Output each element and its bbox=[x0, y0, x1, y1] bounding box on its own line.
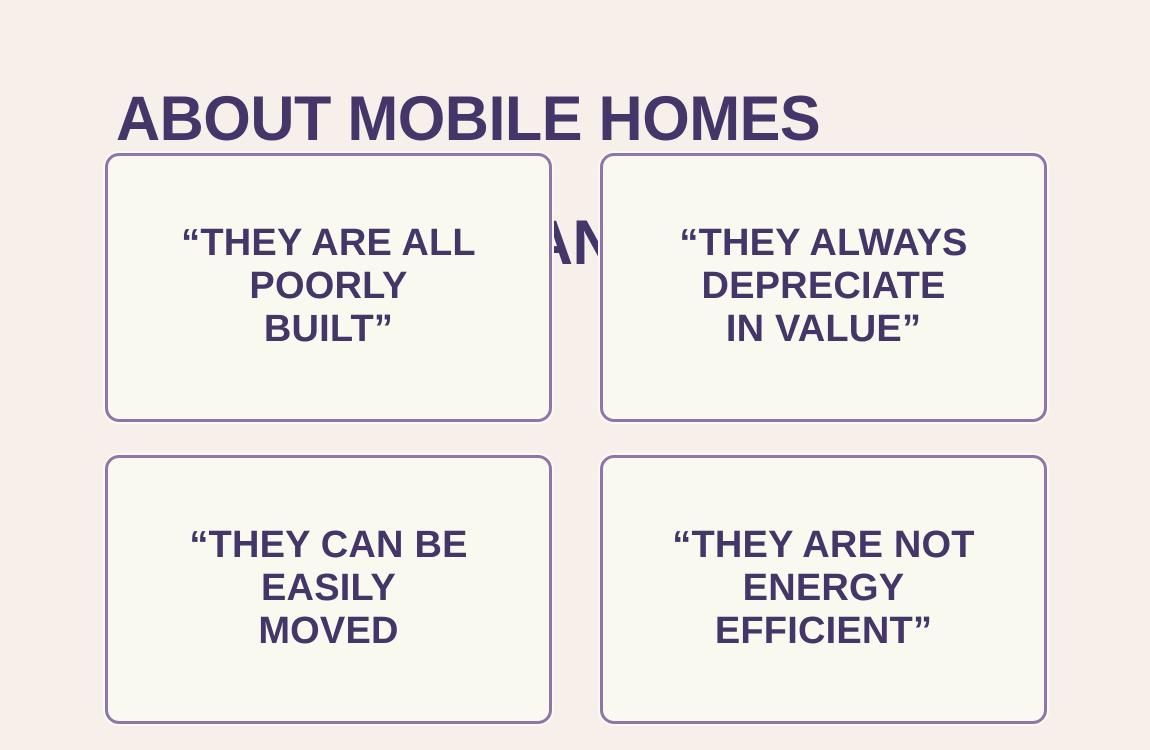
myth-quote-text: “THEY ARE NOT ENERGY EFFICIENT” bbox=[629, 524, 1018, 653]
myth-card-not-energy-efficient: “THEY ARE NOT ENERGY EFFICIENT” bbox=[600, 455, 1047, 724]
myth-quote-text: “THEY ALWAYS DEPRECIATE IN VALUE” bbox=[629, 222, 1018, 351]
myth-quote-text: “THEY CAN BE EASILY MOVED bbox=[134, 524, 523, 653]
myth-card-depreciate-in-value: “THEY ALWAYS DEPRECIATE IN VALUE” bbox=[600, 153, 1047, 422]
page-title-line-1: ABOUT MOBILE HOMES bbox=[116, 88, 1086, 150]
myth-card-easily-moved: “THEY CAN BE EASILY MOVED bbox=[105, 455, 552, 724]
myth-quote-text: “THEY ARE ALL POORLY BUILT” bbox=[134, 222, 523, 351]
myth-card-poorly-built: “THEY ARE ALL POORLY BUILT” bbox=[105, 153, 552, 422]
infographic-poster: ABOUT MOBILE HOMES ON PRIVATE LAND “THEY… bbox=[0, 0, 1150, 750]
myth-card-grid: “THEY ARE ALL POORLY BUILT” “THEY ALWAYS… bbox=[105, 153, 1043, 724]
